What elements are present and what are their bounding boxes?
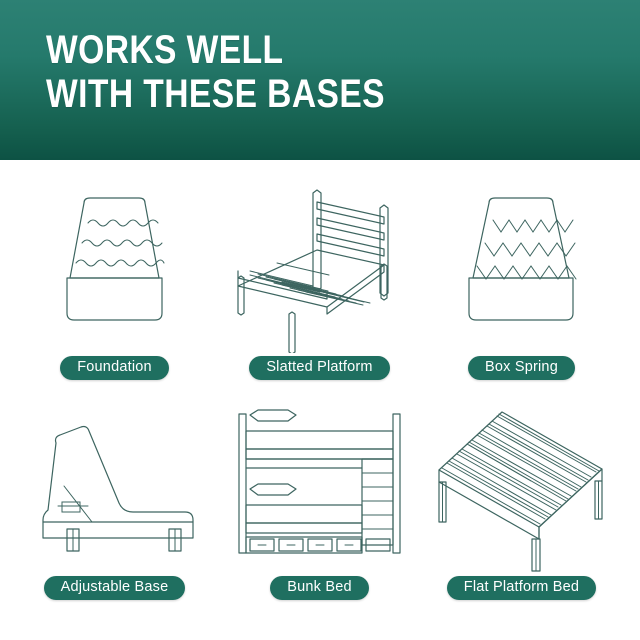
- base-label-flat-platform-bed[interactable]: Flat Platform Bed: [447, 576, 596, 600]
- slatted-platform-bed-icon: [217, 178, 422, 353]
- base-label-adjustable-base[interactable]: Adjustable Base: [44, 576, 186, 600]
- base-card-flat-platform-bed: Flat Platform Bed: [419, 398, 624, 628]
- header-banner: WORKS WELL WITH THESE BASES: [0, 0, 640, 160]
- label-wrap-bunk-bed: Bunk Bed: [217, 576, 422, 600]
- flat-platform-bed-icon: [419, 398, 624, 573]
- label-wrap-slatted-platform: Slatted Platform: [217, 356, 422, 380]
- base-label-box-spring[interactable]: Box Spring: [468, 356, 575, 380]
- base-label-slatted-platform[interactable]: Slatted Platform: [249, 356, 389, 380]
- label-wrap-flat-platform-bed: Flat Platform Bed: [419, 576, 624, 600]
- page-title-line-1: WORKS WELL: [46, 28, 283, 72]
- base-card-slatted-platform: Slatted Platform: [217, 178, 422, 408]
- label-wrap-foundation: Foundation: [12, 356, 217, 380]
- foundation-mattress-icon: [12, 178, 217, 353]
- base-card-bunk-bed: Bunk Bed: [217, 398, 422, 628]
- page-title-line-2: WITH THESE BASES: [46, 72, 385, 116]
- base-label-bunk-bed[interactable]: Bunk Bed: [270, 576, 368, 600]
- bunk-bed-icon: [217, 398, 422, 573]
- base-card-adjustable-base: Adjustable Base: [12, 398, 217, 628]
- label-wrap-box-spring: Box Spring: [419, 356, 624, 380]
- adjustable-base-icon: [12, 398, 217, 573]
- infographic-page: WORKS WELL WITH THESE BASES Foundation: [0, 0, 640, 640]
- label-wrap-adjustable-base: Adjustable Base: [12, 576, 217, 600]
- base-card-foundation: Foundation: [12, 178, 217, 408]
- page-title: WORKS WELL WITH THESE BASES: [46, 28, 385, 116]
- base-label-foundation[interactable]: Foundation: [60, 356, 169, 380]
- bases-grid: Foundation: [0, 160, 640, 640]
- box-spring-icon: [419, 178, 624, 353]
- base-card-box-spring: Box Spring: [419, 178, 624, 408]
